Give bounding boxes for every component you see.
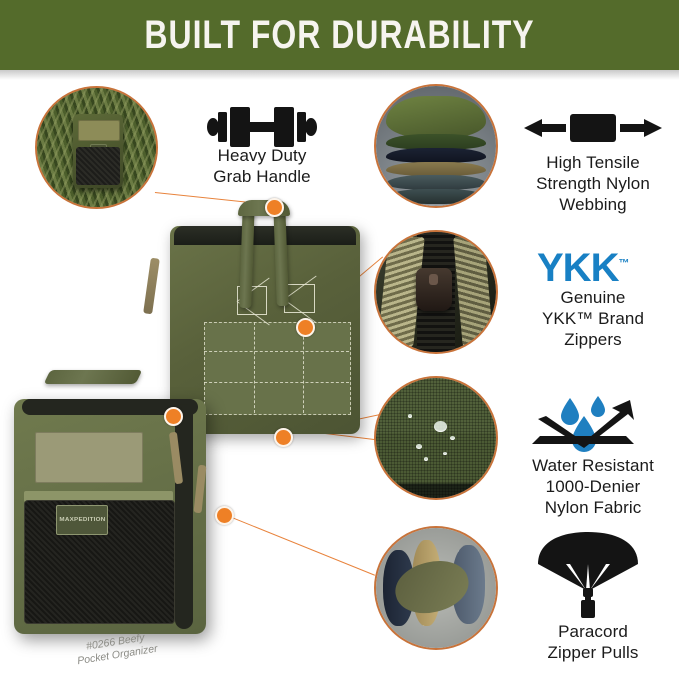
photo-water-beading-fabric: [376, 378, 496, 498]
olive-bag-zipper: [174, 226, 356, 245]
page-title: BUILT FOR DURABILITY: [68, 0, 611, 70]
black-bag-grab-handle: [44, 370, 143, 384]
feature-line: Grab Handle: [182, 166, 342, 187]
parachute-icon: [532, 530, 644, 620]
dumbbell-icon: [207, 104, 317, 150]
molle-webbing-panel: [204, 322, 350, 416]
feature-line: Heavy Duty: [182, 145, 342, 166]
feature-label-paracord: Paracord Zipper Pulls: [508, 621, 678, 663]
connector-line-paracord: [222, 513, 375, 576]
feature-label-grab-handle: Heavy Duty Grab Handle: [182, 145, 342, 187]
feature-label-webbing: High Tensile Strength Nylon Webbing: [513, 152, 673, 215]
feature-line: Genuine: [513, 287, 673, 308]
callout-dot-water[interactable]: [274, 428, 293, 447]
water-repellent-icon: [524, 386, 642, 454]
olive-bag-paracord-pull: [143, 258, 160, 315]
molle-row: [204, 382, 348, 383]
feature-line: Webbing: [513, 194, 673, 215]
black-bag-zipper-side: [175, 404, 192, 630]
ykk-logo: YKK™: [537, 246, 629, 291]
feature-line: Zippers: [513, 329, 673, 350]
feature-line: Water Resistant: [506, 455, 679, 476]
grab-handle-right: [273, 203, 289, 306]
feature-label-ykk: Genuine YKK™ Brand Zippers: [513, 287, 673, 350]
feature-line: 1000-Denier: [506, 476, 679, 497]
brand-logo-patch: MAXPEDITION: [56, 505, 108, 535]
feature-label-water: Water Resistant 1000-Denier Nylon Fabric: [506, 455, 679, 518]
infographic-page: BUILT FOR DURABILITY: [0, 0, 679, 679]
webbing-tension-icon: [522, 110, 664, 146]
velcro-id-panel: [35, 432, 143, 483]
photo-paracord-bundles: [376, 528, 496, 648]
header-shadow: [0, 70, 679, 80]
trademark-symbol: ™: [618, 258, 629, 270]
callout-dot-grab-handle[interactable]: [265, 198, 284, 217]
molle-column: [254, 322, 255, 414]
feature-line: Strength Nylon: [513, 173, 673, 194]
feature-line: Zipper Pulls: [508, 642, 678, 663]
molle-row: [204, 351, 348, 352]
ykk-wordmark: YKK: [537, 246, 618, 290]
callout-dot-paracord[interactable]: [215, 506, 234, 525]
photo-coiled-webbing: [376, 86, 496, 206]
brand-name: MAXPEDITION: [59, 517, 105, 523]
feature-line: YKK™ Brand: [513, 308, 673, 329]
header-banner: BUILT FOR DURABILITY: [0, 0, 679, 70]
feature-line: Nylon Fabric: [506, 497, 679, 518]
photo-ykk-zipper: [376, 232, 496, 352]
callout-dot-zipper-top[interactable]: [164, 407, 183, 426]
callout-dot-webbing[interactable]: [296, 318, 315, 337]
photo-pouch-in-grass: [37, 88, 156, 207]
feature-line: High Tensile: [513, 152, 673, 173]
feature-line: Paracord: [508, 621, 678, 642]
